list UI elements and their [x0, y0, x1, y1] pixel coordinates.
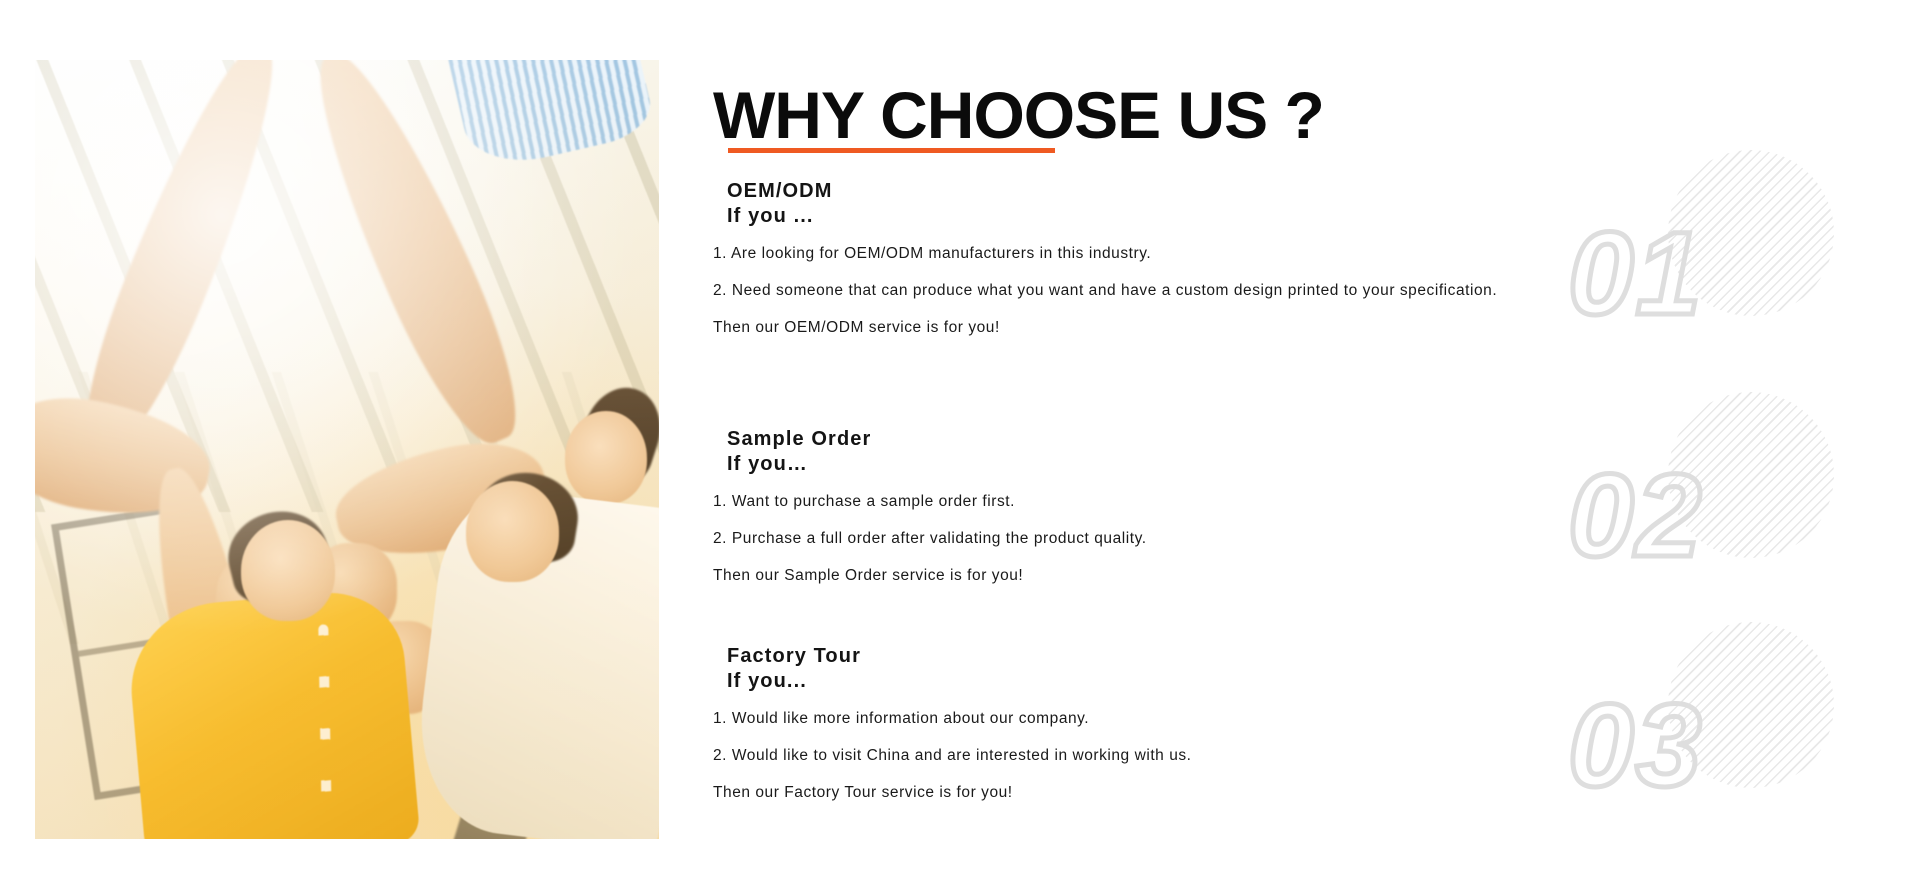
face-yellow-woman — [241, 520, 335, 621]
why-choose-us-page: WHY CHOOSE US ? OEM/ODM If you ... 1. Ar… — [0, 0, 1916, 881]
section-line: 2. Purchase a full order after validatin… — [713, 529, 1813, 550]
section-oem-odm: OEM/ODM If you ... 1. Are looking for OE… — [713, 180, 1813, 339]
section-line: Then our Factory Tour service is for you… — [713, 783, 1813, 804]
section-sample-order: Sample Order If you… 1. Want to purchase… — [713, 428, 1813, 587]
section-line: Then our OEM/ODM service is for you! — [713, 318, 1813, 339]
section-heading: Sample Order — [727, 428, 1813, 451]
page-title: WHY CHOOSE US ? — [713, 82, 1324, 148]
face-man — [466, 481, 560, 582]
section-heading: OEM/ODM — [727, 180, 1813, 203]
section-line: Then our Sample Order service is for you… — [713, 566, 1813, 587]
content-column: WHY CHOOSE US ? OEM/ODM If you ... 1. Ar… — [713, 0, 1916, 881]
section-line: 2. Need someone that can produce what yo… — [713, 281, 1813, 302]
section-line: 2. Would like to visit China and are int… — [713, 746, 1813, 767]
team-fist-bump-photo — [35, 60, 659, 839]
blouse-buttons — [318, 624, 331, 825]
section-subheading: If you ... — [727, 205, 1813, 228]
section-subheading: If you... — [727, 670, 1813, 693]
section-subheading: If you… — [727, 453, 1813, 476]
section-factory-tour: Factory Tour If you... 1. Would like mor… — [713, 645, 1813, 804]
yellow-blouse — [124, 586, 420, 839]
face-right-woman — [565, 411, 646, 504]
orange-divider — [728, 148, 1055, 153]
section-line: 1. Want to purchase a sample order first… — [713, 492, 1813, 513]
section-heading: Factory Tour — [727, 645, 1813, 668]
section-line: 1. Would like more information about our… — [713, 709, 1813, 730]
section-line: 1. Are looking for OEM/ODM manufacturers… — [713, 244, 1813, 265]
